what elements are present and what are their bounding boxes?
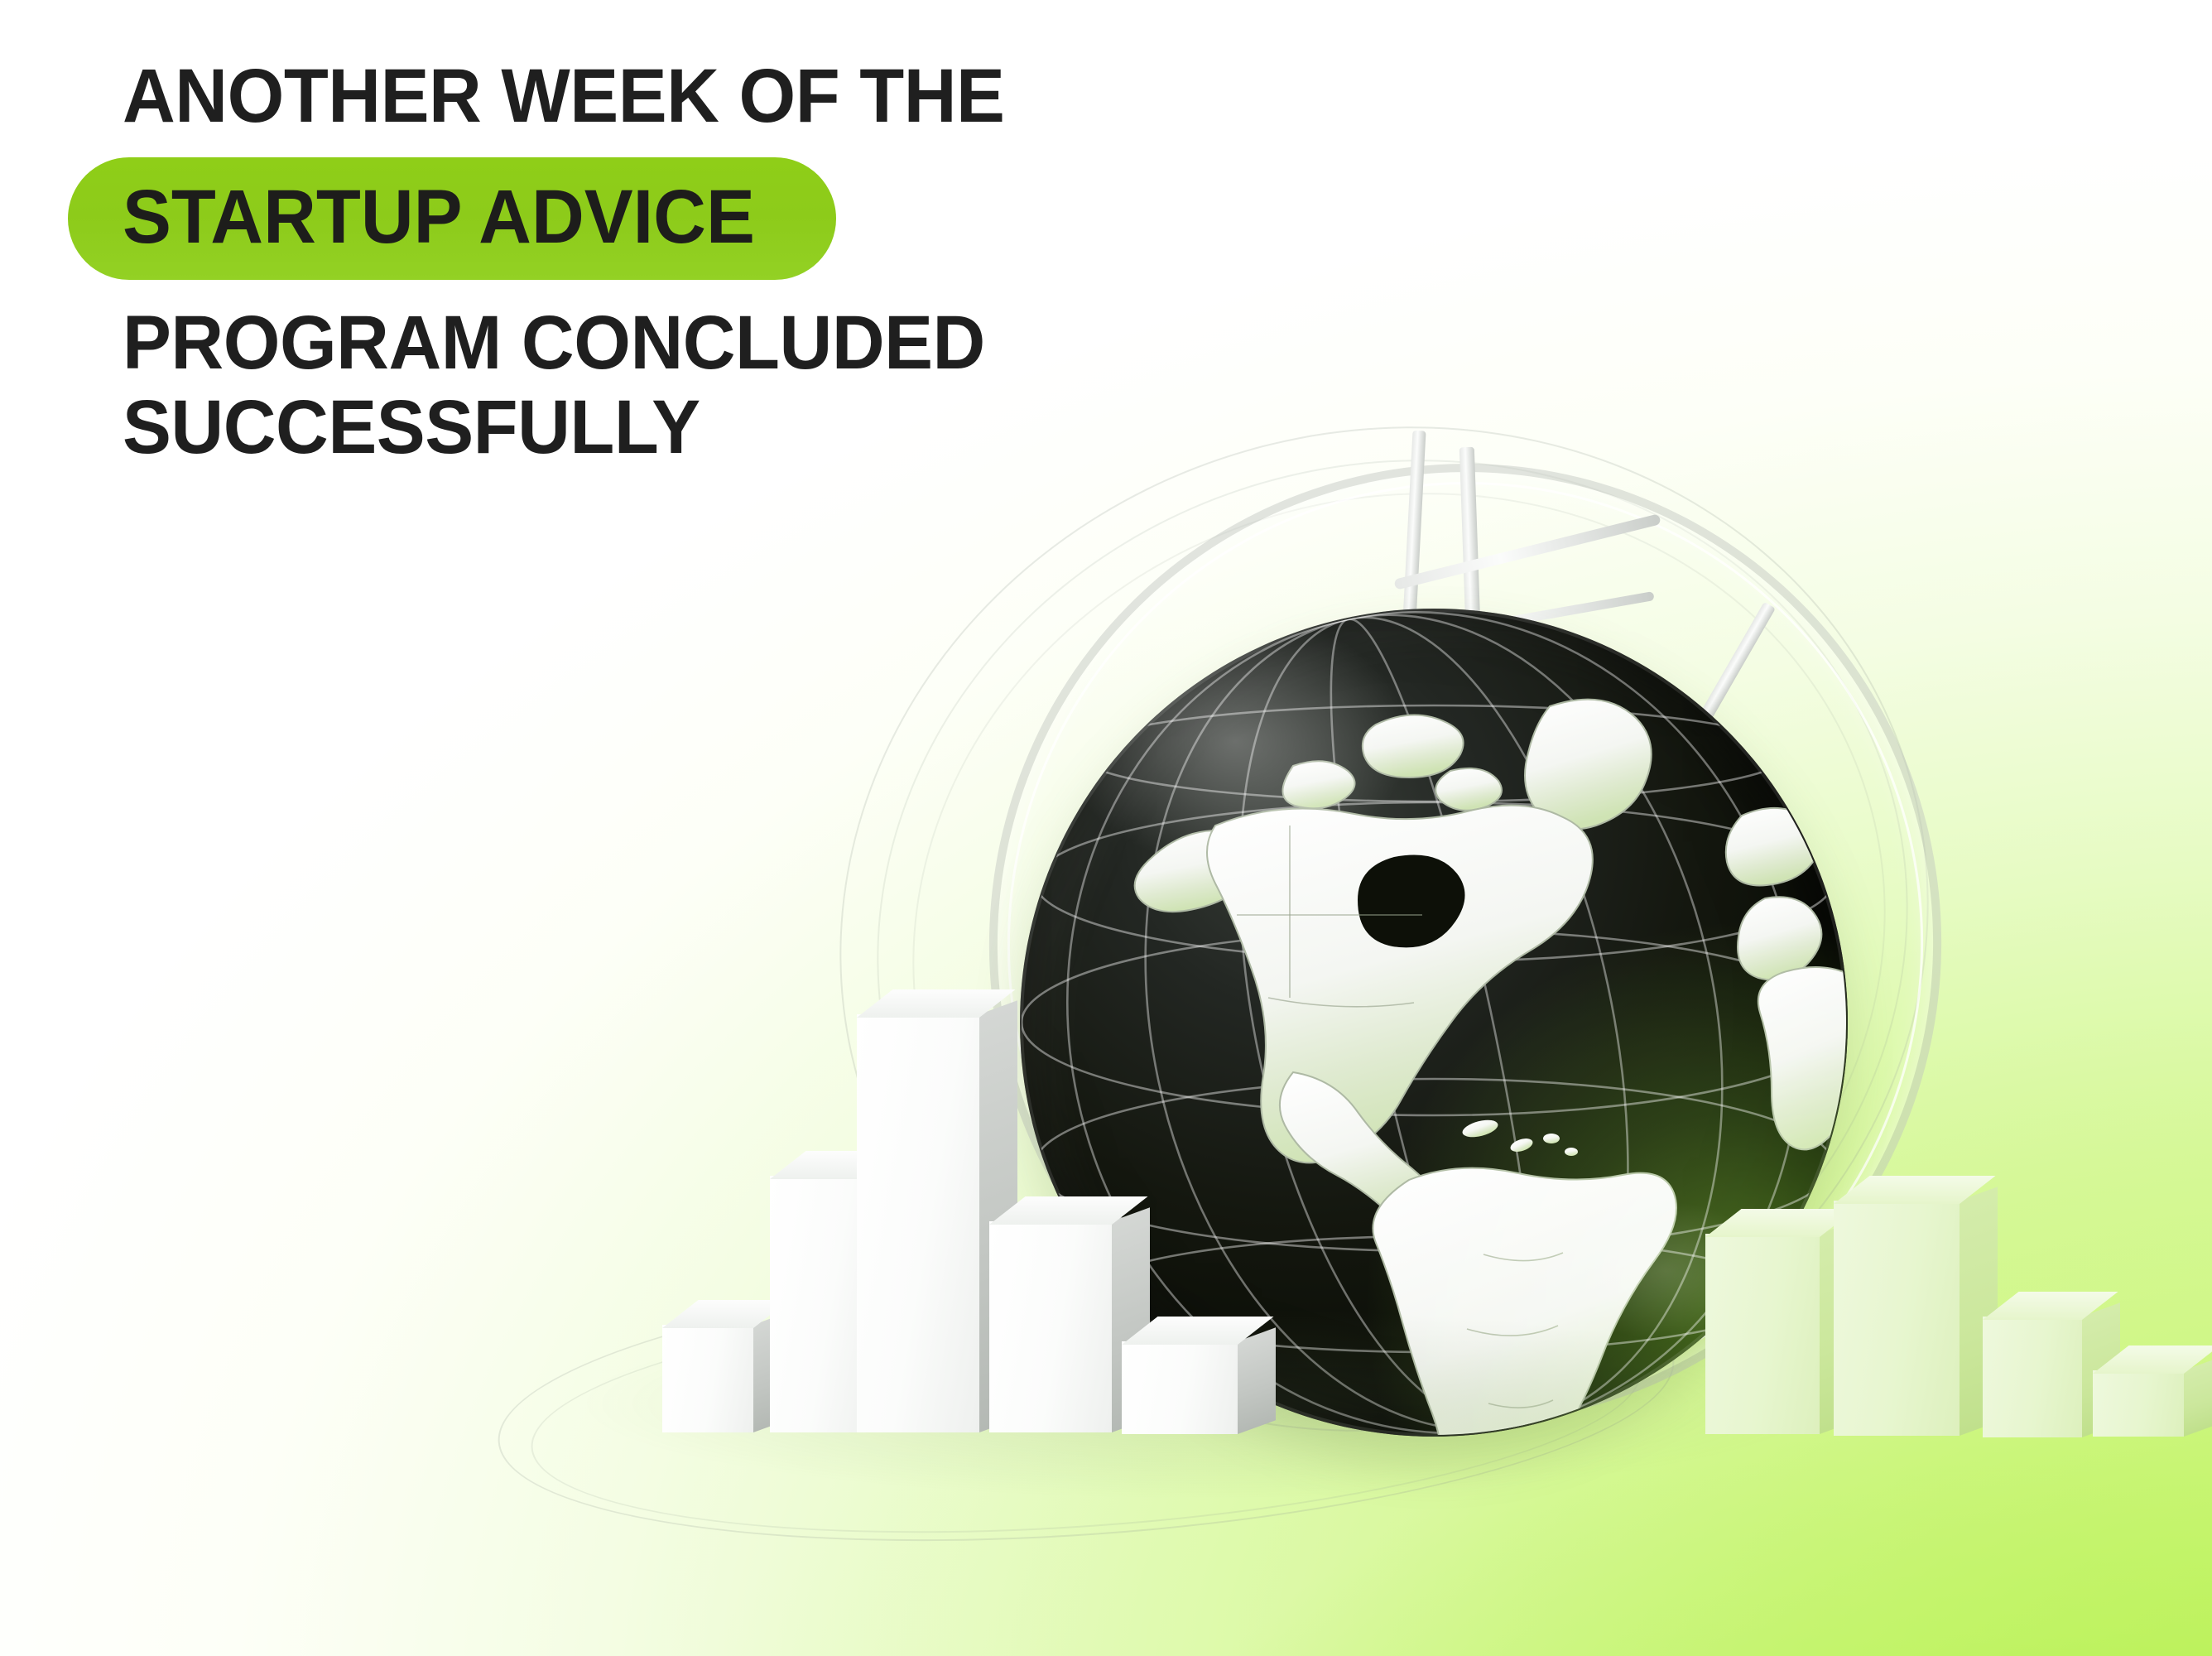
headline-highlight-text: STARTUP ADVICE — [123, 179, 755, 255]
bar-face — [1834, 1201, 1960, 1436]
bar-face — [1983, 1317, 2082, 1437]
bar-chart-bar — [1122, 1341, 1238, 1434]
poster-canvas: ANOTHER WEEK OF THE STARTUP ADVICE PROGR… — [0, 0, 2212, 1656]
bar-face — [2093, 1370, 2184, 1437]
headline-lines-3-4: PROGRAM CONCLUDED SUCCESSFULLY — [123, 305, 1364, 465]
bar-chart-bar — [1983, 1317, 2082, 1437]
bar-chart-bar — [857, 1014, 979, 1432]
bar-face — [989, 1221, 1112, 1432]
bar-chart-bar — [662, 1325, 753, 1432]
bar-side — [1238, 1327, 1276, 1434]
bar-chart-bar — [1834, 1201, 1960, 1436]
headline-line-4: SUCCESSFULLY — [123, 389, 1315, 465]
headline-line-3: PROGRAM CONCLUDED — [123, 305, 1315, 381]
bar-face — [662, 1325, 753, 1432]
bar-face — [1122, 1341, 1238, 1434]
bar-chart-bar — [2093, 1370, 2184, 1437]
bar-chart-bar — [1705, 1234, 1820, 1434]
bar-face — [1705, 1234, 1820, 1434]
headline-highlight-pill: STARTUP ADVICE — [68, 157, 836, 280]
headline-line-1: ANOTHER WEEK OF THE — [123, 58, 1315, 134]
headline-block: ANOTHER WEEK OF THE STARTUP ADVICE PROGR… — [123, 58, 1364, 465]
bar-face — [857, 1014, 979, 1432]
bar-chart-bar — [989, 1221, 1112, 1432]
